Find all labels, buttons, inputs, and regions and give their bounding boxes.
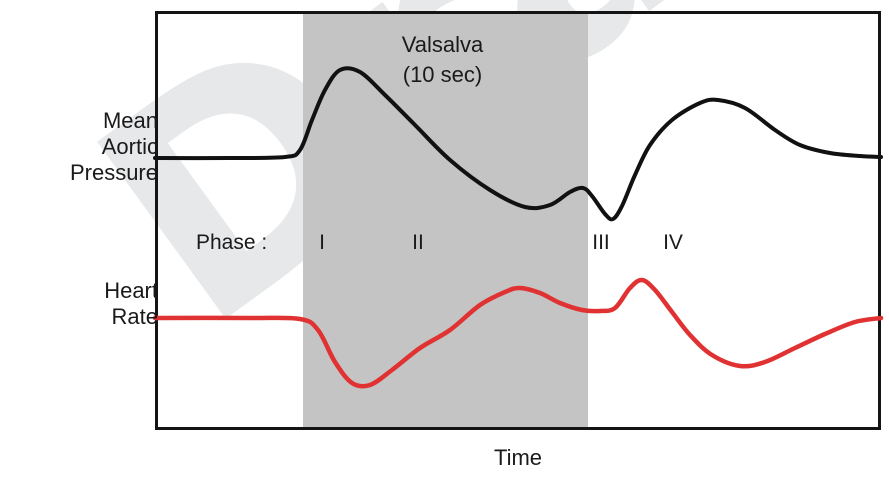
x-axis-label: Time (155, 445, 881, 471)
series-label-line-2: Rate (8, 304, 158, 330)
series-label-line-1: Mean (8, 108, 158, 134)
series-label-line-2: Aortic (8, 134, 158, 160)
series-label-heart-rate: Heart Rate (8, 278, 158, 330)
mean-aortic-pressure-curve (155, 68, 881, 219)
phase-label-i: I (302, 231, 342, 255)
chart-title-line-2: (10 sec) (300, 60, 585, 90)
chart-figure: Mean Aortic Pressure Heart Rate Valsalva… (0, 0, 889, 484)
series-label-mean-aortic-pressure: Mean Aortic Pressure (8, 108, 158, 186)
phase-caption: Phase : (196, 231, 267, 255)
phase-label-iv: IV (653, 231, 693, 255)
phase-label-ii: II (398, 231, 438, 255)
series-label-line-3: Pressure (8, 160, 158, 186)
chart-title-line-1: Valsalva (300, 30, 585, 60)
chart-title: Valsalva (10 sec) (300, 30, 585, 90)
phase-label-iii: III (581, 231, 621, 255)
heart-rate-curve (155, 280, 881, 386)
series-label-line-1: Heart (8, 278, 158, 304)
